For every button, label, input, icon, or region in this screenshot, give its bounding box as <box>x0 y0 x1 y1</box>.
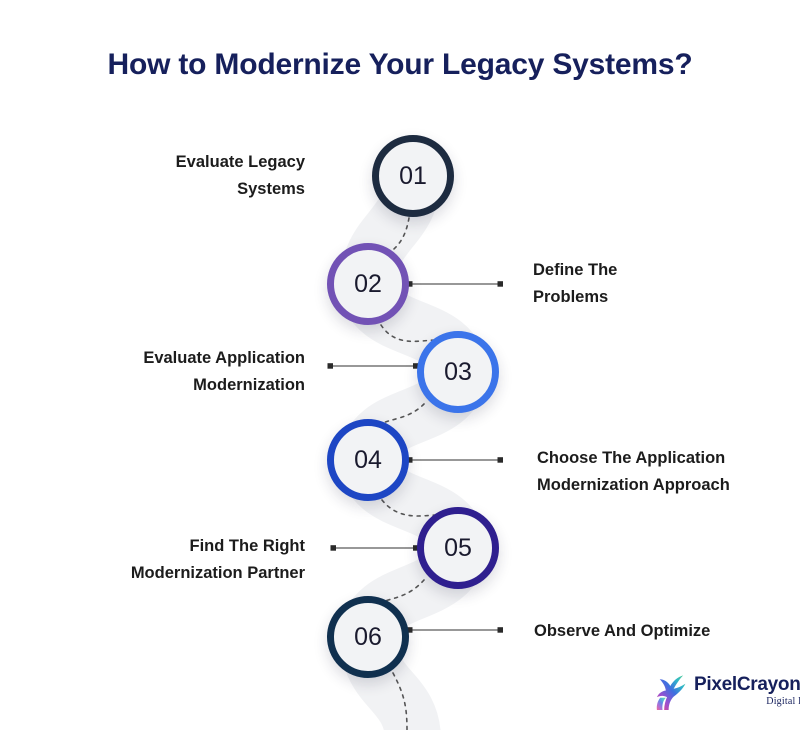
step-label-04: Choose The Application Modernization App… <box>537 445 787 498</box>
hummingbird-icon <box>655 672 689 710</box>
step-circle-05[interactable]: 05 <box>417 507 499 589</box>
infographic-root: How to Modernize Your Legacy Systems? <box>0 0 800 730</box>
step-circle-02[interactable]: 02 <box>327 243 409 325</box>
step-label-02: Define The Problems <box>533 257 763 310</box>
step-label-05: Find The Right Modernization Partner <box>55 533 305 586</box>
step-number-04: 04 <box>354 446 382 475</box>
brand-logo: PixelCrayons™ Digital First <box>655 672 800 710</box>
step-label-03: Evaluate Application Modernization <box>55 345 305 398</box>
label-connector-04 <box>407 457 503 463</box>
step-label-01: Evaluate Legacy Systems <box>95 149 305 202</box>
logo-wordmark: PixelCrayons™ <box>694 675 800 694</box>
label-connector-03 <box>328 363 419 369</box>
step-circle-06[interactable]: 06 <box>327 596 409 678</box>
step-number-05: 05 <box>444 534 472 563</box>
step-number-03: 03 <box>444 358 472 387</box>
step-circle-03[interactable]: 03 <box>417 331 499 413</box>
label-connector-06 <box>407 627 503 633</box>
step-number-06: 06 <box>354 623 382 652</box>
step-label-06: Observe And Optimize <box>534 618 789 645</box>
label-connector-05 <box>331 545 419 551</box>
step-number-01: 01 <box>399 162 427 191</box>
step-number-02: 02 <box>354 270 382 299</box>
step-circle-04[interactable]: 04 <box>327 419 409 501</box>
logo-wordmark-text: PixelCrayons <box>694 674 800 695</box>
logo-tagline: Digital First <box>694 697 800 707</box>
step-circle-01[interactable]: 01 <box>372 135 454 217</box>
label-connector-02 <box>407 281 503 287</box>
